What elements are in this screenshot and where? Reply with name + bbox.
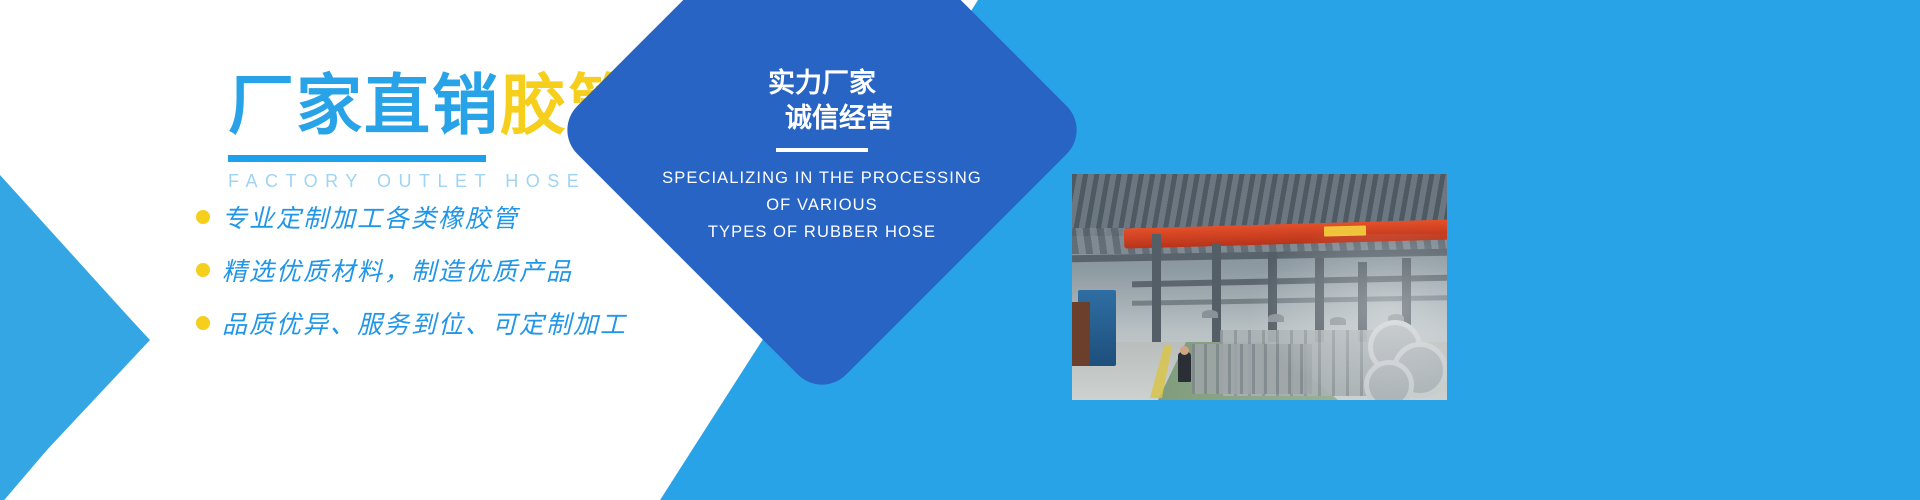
list-item-label: 品质优异、服务到位、可定制加工 — [222, 305, 627, 341]
headline-primary: 厂家直销 — [228, 68, 500, 142]
diamond-divider — [776, 148, 868, 152]
diamond-heading: 实力厂家 诚信经营 — [751, 66, 893, 135]
diamond-subtext-line1: SPECIALIZING IN THE PROCESSING — [662, 165, 982, 192]
photo-light-haze — [1242, 234, 1447, 400]
bullet-dot-icon — [196, 316, 210, 330]
diamond-subtext: SPECIALIZING IN THE PROCESSING OF VARIOU… — [662, 165, 982, 245]
factory-photo — [1072, 174, 1447, 400]
diamond-badge: 实力厂家 诚信经营 SPECIALIZING IN THE PROCESSING… — [632, 0, 1012, 320]
promo-banner: 厂家直销胶管 FACTORY OUTLET HOSE 专业定制加工各类橡胶管 精… — [0, 0, 1920, 500]
headline-divider — [228, 155, 486, 162]
list-item-label: 专业定制加工各类橡胶管 — [222, 199, 519, 235]
bullet-dot-icon — [196, 210, 210, 224]
diamond-heading-line1: 实力厂家 — [751, 66, 893, 101]
diamond-content: 实力厂家 诚信经营 SPECIALIZING IN THE PROCESSING… — [632, 0, 1012, 320]
diamond-heading-line2: 诚信经营 — [751, 101, 893, 136]
list-item-label: 精选优质材料，制造优质产品 — [222, 252, 573, 288]
photo-side-equipment — [1072, 302, 1090, 366]
left-chevron-shape-inner — [0, 175, 145, 500]
diamond-subtext-line3: TYPES OF RUBBER HOSE — [662, 219, 982, 246]
photo-worker — [1178, 352, 1191, 382]
diamond-subtext-line2: OF VARIOUS — [662, 192, 982, 219]
bullet-dot-icon — [196, 263, 210, 277]
photo-ceiling-lamp — [1202, 310, 1218, 318]
photo-worker-head — [1180, 346, 1189, 355]
